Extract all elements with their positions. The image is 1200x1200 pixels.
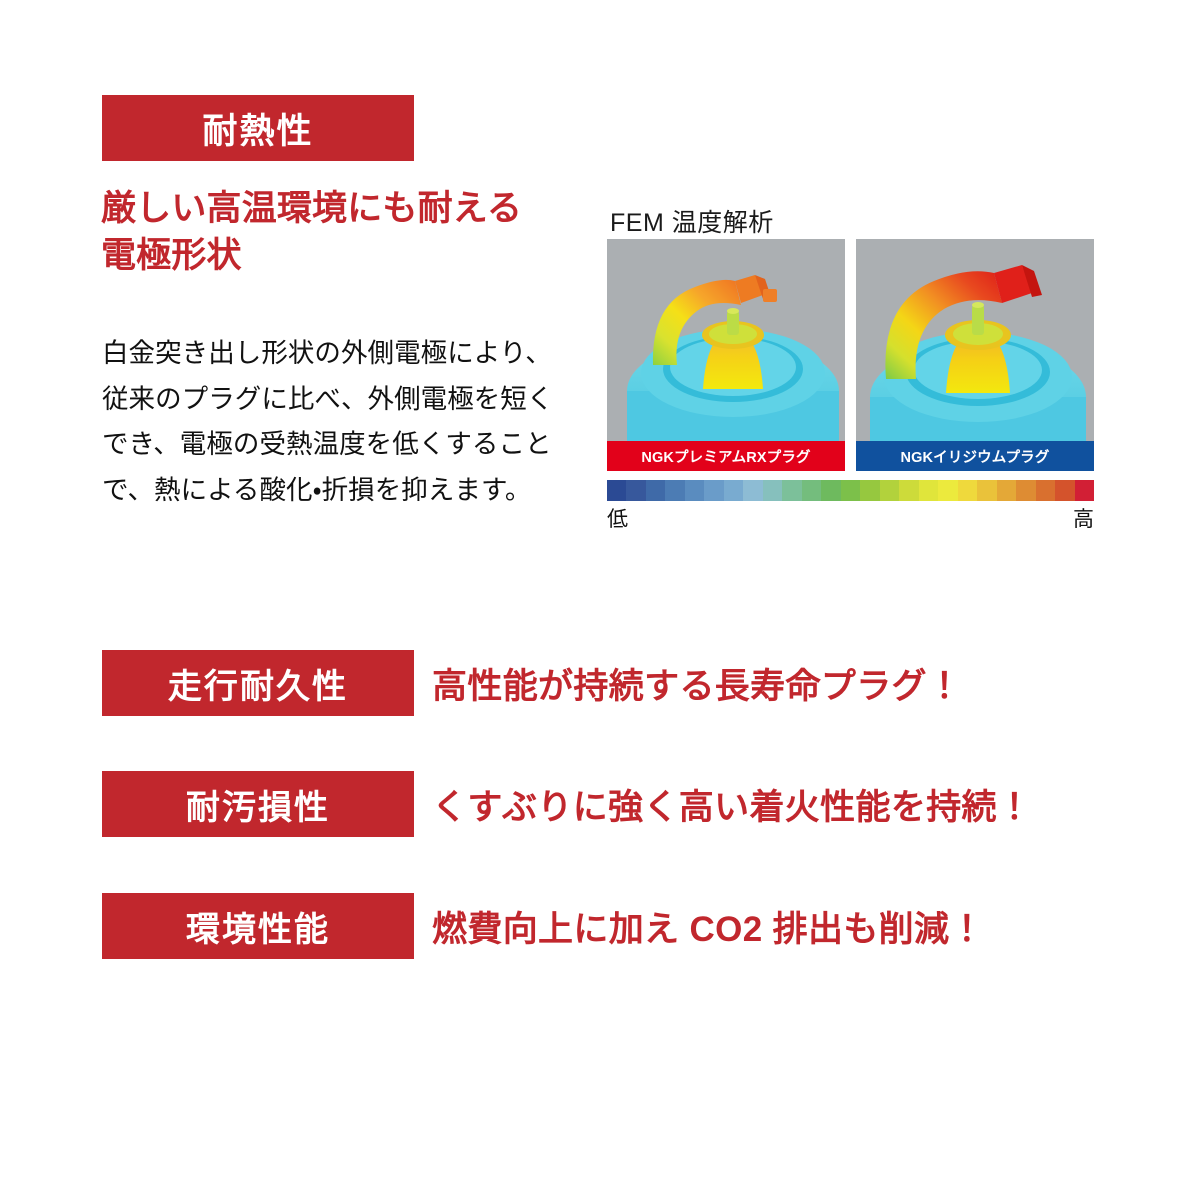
legend-color-step-9 [782,480,801,501]
legend-label-high: 高 [1073,503,1094,533]
feature-row-environmental-performance: 環境性能 燃費向上に加え CO2 排出も削減！ [0,893,1200,959]
section-badge-heat-resistance: 耐熱性 [102,95,414,161]
legend-color-step-6 [724,480,743,501]
subtitle-line: 電極形状 [101,236,242,275]
product-feature-page: 耐熱性 厳しい高温環境にも耐える 電極形状 白金突き出し形状の外側電極により、 … [0,0,1200,1200]
legend-label-low: 低 [607,503,628,533]
thermal-render-premium-rx [607,239,845,471]
fem-panel-group: NGKプレミアムRXプラグ [607,239,1094,471]
legend-color-step-15 [899,480,918,501]
body-line: 白金突き出し形状の外側電極により、 [102,331,582,377]
legend-color-step-18 [958,480,977,501]
legend-color-step-3 [665,480,684,501]
legend-color-step-12 [841,480,860,501]
feature-row-driving-durability: 走行耐久性 高性能が持続する長寿命プラグ！ [0,650,1200,716]
legend-color-step-23 [1055,480,1074,501]
fem-caption-premium-rx: NGKプレミアムRXプラグ [607,441,845,471]
feature-text-driving-durability: 高性能が持続する長寿命プラグ！ [432,650,962,716]
fem-panel-iridium: NGKイリジウムプラグ [856,239,1094,471]
legend-color-step-1 [626,480,645,501]
legend-color-step-0 [607,480,626,501]
legend-color-step-8 [763,480,782,501]
legend-color-step-22 [1036,480,1055,501]
legend-color-step-4 [685,480,704,501]
legend-color-step-16 [919,480,938,501]
legend-color-step-14 [880,480,899,501]
legend-color-bar [607,480,1094,501]
subtitle-line: 厳しい高温環境にも耐える [101,189,522,228]
feature-badge-driving-durability: 走行耐久性 [102,650,414,716]
feature-row-fouling-resistance: 耐汚損性 くすぶりに強く高い着火性能を持続！ [0,771,1200,837]
legend-color-step-20 [997,480,1016,501]
legend-color-step-19 [977,480,996,501]
legend-color-step-24 [1075,480,1094,501]
feature-badge-environmental-performance: 環境性能 [102,893,414,959]
feature-text-fouling-resistance: くすぶりに強く高い着火性能を持続！ [432,771,1032,837]
legend-color-step-21 [1016,480,1035,501]
legend-color-step-7 [743,480,762,501]
fem-caption-iridium: NGKイリジウムプラグ [856,441,1094,471]
temperature-color-legend: 低 高 [607,480,1094,533]
thermal-render-iridium [856,239,1094,471]
fem-analysis-title: FEM 温度解析 [610,203,774,239]
legend-color-step-10 [802,480,821,501]
heat-resistance-body-text: 白金突き出し形状の外側電極により、 従来のプラグに比べ、外側電極を短く でき、電… [102,331,582,513]
legend-color-step-17 [938,480,957,501]
body-line: でき、電極の受熱温度を低くすること [102,422,582,468]
legend-color-step-5 [704,480,723,501]
body-line: 従来のプラグに比べ、外側電極を短く [102,377,582,423]
fem-panel-premium-rx: NGKプレミアムRXプラグ [607,239,845,471]
feature-badge-fouling-resistance: 耐汚損性 [102,771,414,837]
legend-labels: 低 高 [607,503,1094,533]
heat-resistance-subtitle: 厳しい高温環境にも耐える 電極形状 [101,186,591,279]
feature-text-environmental-performance: 燃費向上に加え CO2 排出も削減！ [432,893,985,959]
legend-color-step-2 [646,480,665,501]
legend-color-step-13 [860,480,879,501]
body-line: で、熱による酸化・折損を抑えます。 [102,468,582,514]
legend-color-step-11 [821,480,840,501]
